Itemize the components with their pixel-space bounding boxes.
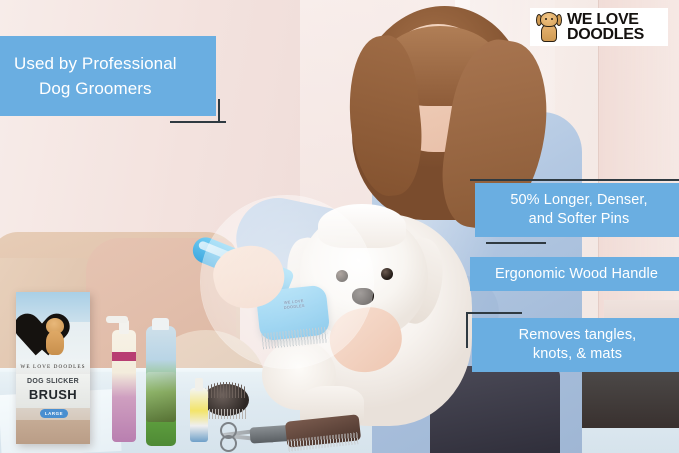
brand-logo: WE LOVE DOODLES — [530, 8, 668, 46]
shampoo-bottle-cap — [152, 318, 169, 330]
box-brand-text: WE LOVE DOODLES — [16, 364, 90, 370]
callout-ergonomic-wood-handle: Ergonomic Wood Handle — [470, 257, 679, 291]
box-size-badge: LARGE — [40, 409, 68, 418]
callout-pins-line2: and Softer Pins — [510, 210, 647, 229]
spray-bottle — [112, 330, 136, 442]
callout-tangles-line1: Removes tangles, — [519, 326, 637, 345]
callout-rule-pins — [470, 179, 679, 181]
callout-handle-line1: Ergonomic Wood Handle — [495, 265, 658, 284]
brand-logo-text: WE LOVE DOODLES — [567, 12, 644, 42]
brand-logo-line2: DOODLES — [567, 27, 644, 42]
callout-longer-denser-softer-pins: 50% Longer, Denser, and Softer Pins — [475, 183, 679, 237]
dropper-bottle-cap — [195, 378, 203, 391]
scissors-ring-lower — [220, 435, 237, 452]
callout-rule-tangles-horizontal — [466, 312, 522, 314]
callout-used-by-professional-dog-groomers: Used by Professional Dog Groomers — [0, 36, 216, 116]
dropper-bottle — [190, 388, 208, 442]
goldendoodle-dog-icon — [536, 12, 562, 42]
puppy-photo — [42, 318, 68, 358]
callout-rule-tangles-vertical — [466, 312, 468, 348]
box-bottom-band — [16, 420, 90, 444]
product-packaging-box: WE LOVE DOODLES DOG SLICKER BRUSH LARGE — [16, 292, 90, 444]
box-product-line2: BRUSH — [16, 387, 90, 402]
product-marketing-image: WE LOVE DOODLES WE LOVE DOODLES DOG SLIC… — [0, 0, 679, 453]
puppy-body — [46, 331, 64, 355]
pin-brush-bristles — [205, 382, 247, 398]
dog-icon-right-eye — [551, 18, 553, 20]
dog-right-eye — [381, 268, 393, 280]
shampoo-bottle-label — [146, 372, 176, 422]
callout-tangles-line2: knots, & mats — [519, 345, 637, 364]
spray-nozzle — [106, 316, 128, 323]
callout-pins-line1: 50% Longer, Denser, — [510, 191, 647, 210]
brand-logo-line1: WE LOVE — [567, 12, 644, 27]
callout-rule-handle — [486, 242, 546, 244]
spray-bottle-label — [112, 352, 136, 361]
box-product-line1: DOG SLICKER — [16, 378, 90, 385]
callout-groomers-line1: Used by Professional — [14, 51, 177, 76]
callout-removes-tangles-knots-mats: Removes tangles, knots, & mats — [472, 318, 679, 372]
spotlight-circle — [201, 196, 373, 368]
dog-icon-head — [540, 12, 558, 27]
callout-rule-groomers-vertical — [218, 99, 220, 123]
dog-icon-left-eye — [545, 18, 547, 20]
callout-groomers-line2: Dog Groomers — [14, 76, 177, 101]
